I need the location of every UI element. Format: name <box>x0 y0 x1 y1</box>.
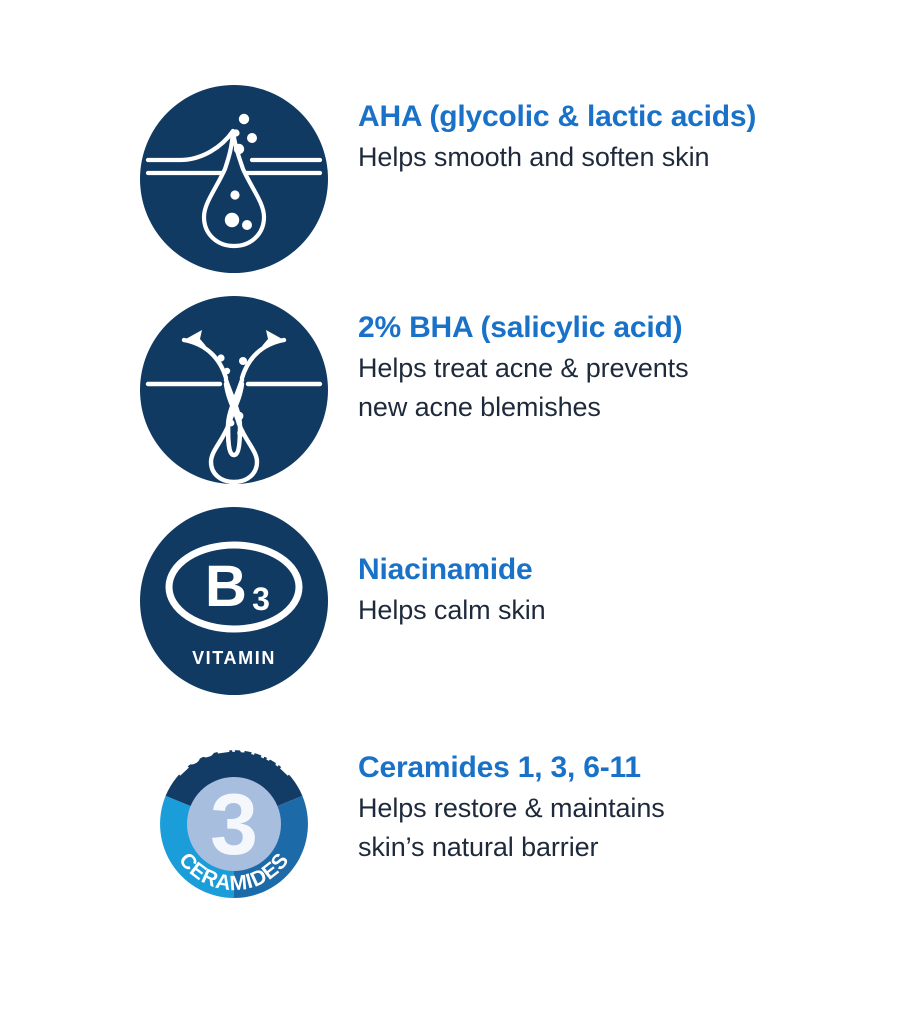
description-line: new acne blemishes <box>358 388 898 426</box>
vitamin-b3-icon: B 3 VITAMIN <box>140 507 328 695</box>
list-item: 3 ESSENTIAL CERAMIDES Ceramides 1, 3, 6-… <box>140 730 900 918</box>
feature-text-block: AHA (glycolic & lactic acids) Helps smoo… <box>358 99 898 177</box>
pore-smooth-skin-icon <box>140 85 328 273</box>
essential-ceramides-badge-icon: 3 ESSENTIAL CERAMIDES <box>140 730 328 918</box>
description-line: Helps treat acne & prevents <box>358 349 898 387</box>
feature-title: Ceramides 1, 3, 6-11 <box>358 750 898 785</box>
description-line: Helps calm skin <box>358 591 898 629</box>
description-line: Helps restore & maintains <box>358 789 898 827</box>
list-item: AHA (glycolic & lactic acids) Helps smoo… <box>140 85 900 273</box>
feature-title: Niacinamide <box>358 552 898 587</box>
feature-description: Helps treat acne & prevents new acne ble… <box>358 349 898 426</box>
vitamin-b3-subscript: 3 <box>252 581 270 617</box>
feature-title: AHA (glycolic & lactic acids) <box>358 99 898 134</box>
description-line: skin’s natural barrier <box>358 828 898 866</box>
feature-text-block: 2% BHA (salicylic acid) Helps treat acne… <box>358 310 898 426</box>
list-item: 2% BHA (salicylic acid) Helps treat acne… <box>140 296 900 484</box>
ceramides-count: 3 <box>210 777 258 873</box>
vitamin-b3-letter: B <box>205 554 247 619</box>
feature-description: Helps restore & maintains skin’s natural… <box>358 789 898 866</box>
description-line: Helps smooth and soften skin <box>358 138 898 176</box>
feature-title: 2% BHA (salicylic acid) <box>358 310 898 345</box>
vitamin-caption: VITAMIN <box>192 648 276 668</box>
feature-description: Helps smooth and soften skin <box>358 138 898 176</box>
list-item: B 3 VITAMIN Niacinamide Helps calm skin <box>140 507 900 695</box>
ingredient-benefits-graphic: AHA (glycolic & lactic acids) Helps smoo… <box>0 0 900 1009</box>
feature-text-block: Niacinamide Helps calm skin <box>358 552 898 630</box>
feature-text-block: Ceramides 1, 3, 6-11 Helps restore & mai… <box>358 750 898 866</box>
pore-unclog-arrows-icon <box>140 296 328 484</box>
feature-description: Helps calm skin <box>358 591 898 629</box>
